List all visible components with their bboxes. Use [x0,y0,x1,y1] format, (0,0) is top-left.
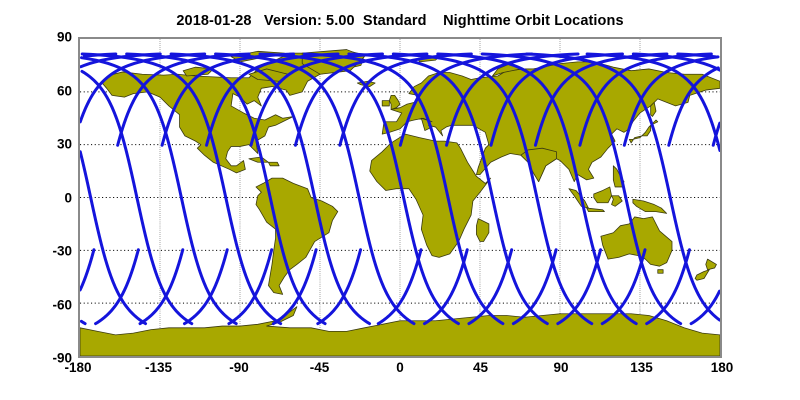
y-tick-label: 0 [64,190,72,205]
orbit-map-figure: 2018-01-28 Version: 5.00 Standard Nightt… [0,0,800,400]
landmass-ireland [382,101,389,106]
x-tick-label: -90 [229,360,249,375]
landmass-hispaniola [268,162,279,166]
y-tick-label: 30 [57,137,72,152]
landmass-borneo [594,187,612,203]
landmass-cuba [249,157,269,162]
x-tick-label: 135 [630,360,653,375]
orbit-track [81,321,85,323]
landmass-new-zealand-n [706,259,717,270]
x-tick-label: 0 [396,360,404,375]
landmass-java [587,208,605,212]
x-tick-label: -135 [145,360,172,375]
y-tick-label: -60 [52,297,72,312]
plot-frame [78,37,722,358]
y-tick-label: -30 [52,244,72,259]
world-map-svg [80,39,720,356]
y-tick-label: 60 [57,83,72,98]
x-tick-label: -45 [310,360,330,375]
landmass-tasmania [658,270,663,274]
landmass-uk [389,95,400,109]
landmass-new-guinea [633,199,667,213]
landmass-africa [370,134,491,257]
plot-inner [80,39,720,356]
orbit-track [80,152,145,324]
orbit-track [80,250,94,290]
landmass-new-zealand-s [695,270,709,281]
landmass-madagascar [476,219,488,242]
y-tick-label: 90 [57,30,72,45]
x-tick-label: 180 [711,360,734,375]
figure-title: 2018-01-28 Version: 5.00 Standard Nightt… [0,13,800,29]
y-tick-label: -90 [52,351,72,366]
x-tick-label: 90 [553,360,568,375]
x-tick-label: 45 [473,360,488,375]
